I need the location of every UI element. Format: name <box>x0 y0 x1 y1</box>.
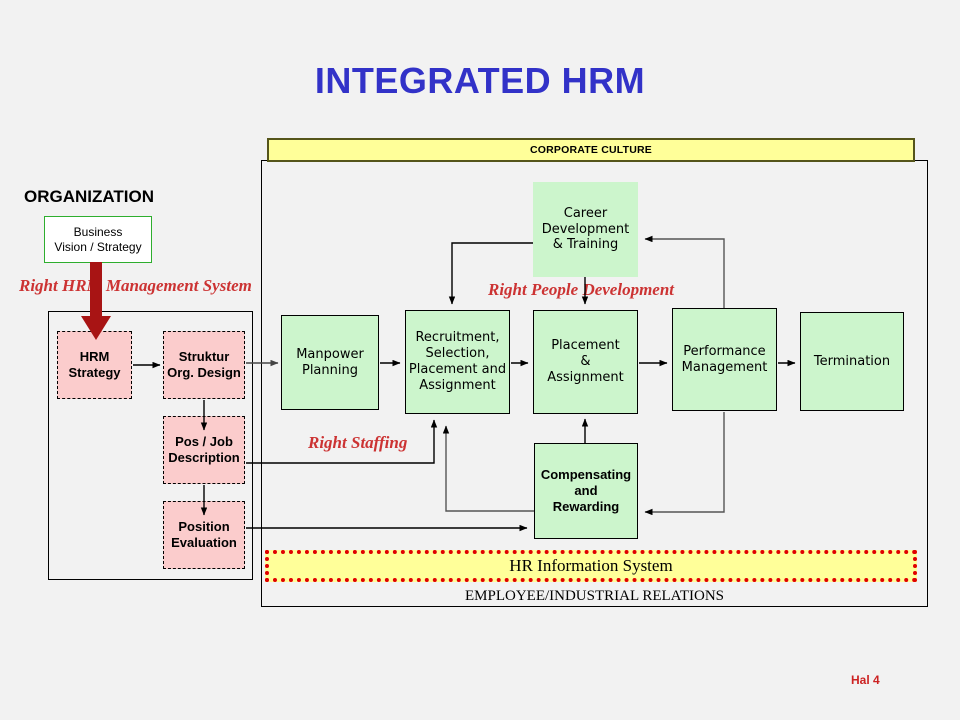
box-business-vision-strategy: Business Vision / Strategy <box>44 216 152 263</box>
page-number: Hal 4 <box>851 673 880 687</box>
box-pos-job-description: Pos / Job Description <box>163 416 245 484</box>
annotation-right-staffing: Right Staffing <box>308 433 407 453</box>
annotation-right-people-development: Right People Development <box>488 280 674 300</box>
box-career-development-training: Career Development & Training <box>533 182 638 277</box>
box-position-evaluation-text: Position Evaluation <box>171 519 237 551</box>
box-recruitment-selection: Recruitment, Selection, Placement and As… <box>405 310 510 414</box>
box-pos-job-description-text: Pos / Job Description <box>168 434 240 466</box>
box-performance-management: Performance Management <box>672 308 777 411</box>
box-manpower-planning-text: Manpower Planning <box>296 347 364 379</box>
box-struktur-org-design: Struktur Org. Design <box>163 331 245 399</box>
organization-label: ORGANIZATION <box>24 187 154 207</box>
annotation-right-hrm-management-system: Right HRM Management System <box>19 276 252 296</box>
box-placement-assignment-text: Placement & Assignment <box>547 338 624 386</box>
hr-information-system-bar: HR Information System <box>265 550 917 582</box>
box-hrm-strategy: HRM Strategy <box>57 331 132 399</box>
box-compensating-rewarding-text: Compensating and Rewarding <box>541 467 631 515</box>
box-placement-assignment: Placement & Assignment <box>533 310 638 414</box>
corporate-culture-label: CORPORATE CULTURE <box>530 144 652 156</box>
box-performance-management-text: Performance Management <box>682 344 768 376</box>
corporate-culture-bar: CORPORATE CULTURE <box>267 138 915 162</box>
box-struktur-org-design-text: Struktur Org. Design <box>167 349 241 381</box>
box-recruitment-selection-text: Recruitment, Selection, Placement and As… <box>409 330 506 393</box>
slide-canvas: INTEGRATED HRM CORPORATE CULTURE ORGANIZ… <box>0 0 960 720</box>
box-career-development-training-text: Career Development & Training <box>542 206 630 254</box>
box-business-vision-strategy-text: Business Vision / Strategy <box>54 225 141 254</box>
page-title: INTEGRATED HRM <box>0 60 960 102</box>
box-termination-text: Termination <box>814 354 890 370</box>
box-termination: Termination <box>800 312 904 411</box>
box-manpower-planning: Manpower Planning <box>281 315 379 410</box>
hr-information-system-label: HR Information System <box>509 556 672 576</box>
box-hrm-strategy-text: HRM Strategy <box>68 349 120 381</box>
box-position-evaluation: Position Evaluation <box>163 501 245 569</box>
employee-industrial-relations-label: EMPLOYEE/INDUSTRIAL RELATIONS <box>261 588 928 605</box>
box-compensating-rewarding: Compensating and Rewarding <box>534 443 638 539</box>
